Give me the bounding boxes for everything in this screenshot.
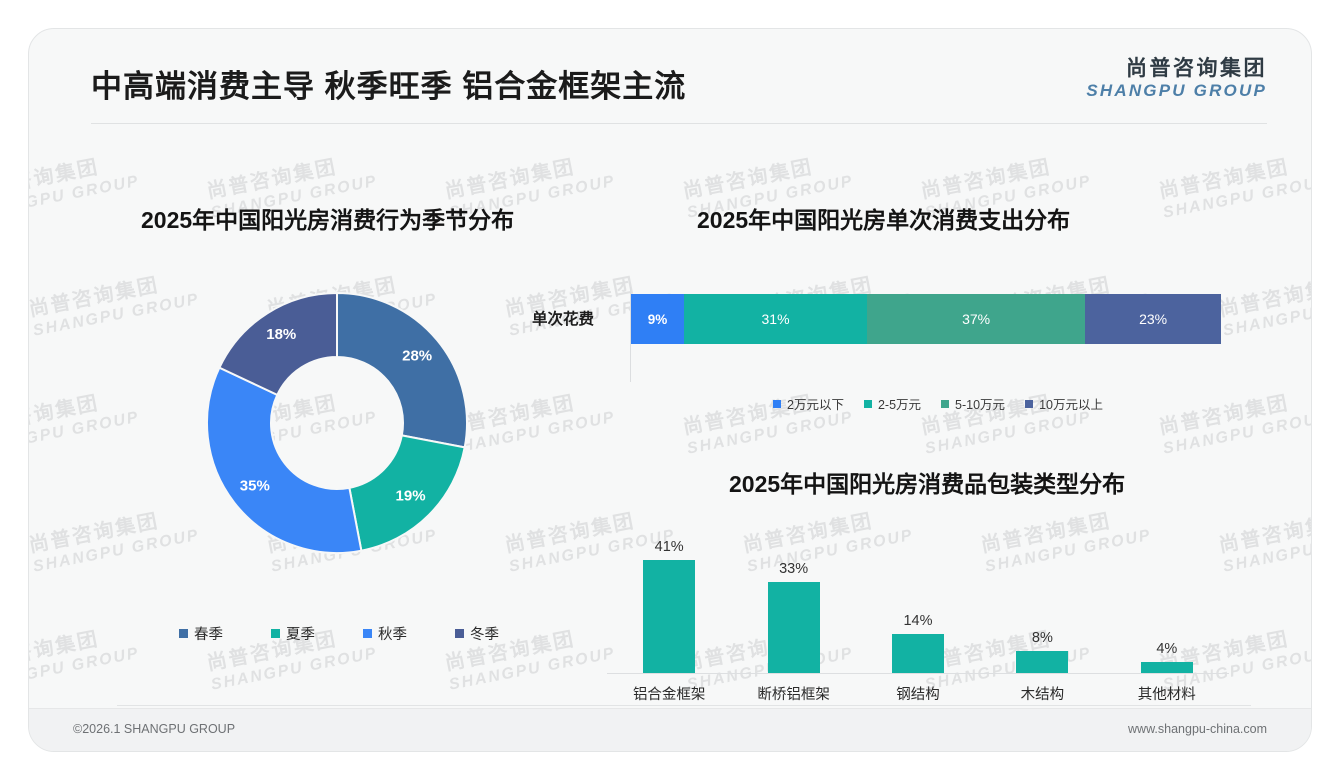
donut-segment-label: 18% (266, 326, 296, 343)
donut-legend-item[interactable]: 秋季 (363, 623, 407, 644)
donut-segment-label: 35% (240, 478, 270, 495)
column-chart-plot: 41%33%14%8%4% (607, 527, 1229, 673)
donut-legend-item[interactable]: 夏季 (271, 623, 315, 644)
donut-legend-label: 夏季 (286, 623, 315, 644)
stacked-row-label: 单次花费 (532, 307, 594, 329)
watermark-text: 尚普咨询集团SHANGPU GROUP (918, 379, 1093, 458)
footnote-divider (117, 705, 1251, 706)
donut-segment[interactable] (337, 293, 467, 447)
column-value-label: 4% (1112, 641, 1222, 657)
legend-swatch-icon (1025, 400, 1033, 408)
watermark-text: 尚普咨询集团SHANGPU GROUP (1216, 261, 1311, 340)
donut-legend-item[interactable]: 冬季 (455, 623, 499, 644)
stacked-legend-label: 5-10万元 (955, 394, 1005, 413)
stacked-legend-item[interactable]: 10万元以上 (1025, 394, 1103, 413)
stacked-legend-label: 2-5万元 (878, 394, 921, 413)
stacked-legend-label: 10万元以上 (1039, 394, 1103, 413)
legend-swatch-icon (363, 629, 372, 638)
donut-segment-label: 19% (396, 488, 426, 505)
column-category-label: 钢结构 (863, 683, 973, 704)
donut-legend-label: 春季 (194, 623, 223, 644)
column-category-label: 铝合金框架 (614, 683, 724, 704)
watermark-text: 尚普咨询集团SHANGPU GROUP (29, 615, 141, 694)
stacked-legend-item[interactable]: 2万元以下 (773, 394, 844, 413)
donut-legend-label: 秋季 (378, 623, 407, 644)
stacked-legend-item[interactable]: 2-5万元 (864, 394, 921, 413)
column-value-label: 33% (739, 561, 849, 577)
legend-swatch-icon (455, 629, 464, 638)
donut-legend-label: 冬季 (470, 623, 499, 644)
column-bar-group[interactable]: 4% (1112, 641, 1222, 673)
stacked-legend-item[interactable]: 5-10万元 (941, 394, 1005, 413)
watermark-text: 尚普咨询集团SHANGPU GROUP (29, 261, 201, 340)
column-bar[interactable] (1141, 662, 1193, 673)
stacked-bar-segment[interactable]: 37% (867, 294, 1085, 344)
stacked-bar: 9%31%37%23% (631, 294, 1221, 344)
stacked-legend-label: 2万元以下 (787, 394, 844, 413)
column-bar-group[interactable]: 14% (863, 613, 973, 673)
watermark-text: 尚普咨询集团SHANGPU GROUP (1156, 379, 1311, 458)
stacked-bar-segment[interactable]: 9% (631, 294, 684, 344)
watermark-text: 尚普咨询集团SHANGPU GROUP (1156, 143, 1311, 222)
column-category-label: 木结构 (987, 683, 1097, 704)
column-bar[interactable] (892, 634, 944, 673)
column-baseline (607, 673, 1229, 674)
stacked-bar-segment[interactable]: 31% (684, 294, 867, 344)
watermark-text: 尚普咨询集团SHANGPU GROUP (29, 497, 201, 576)
column-bar[interactable] (643, 560, 695, 673)
legend-swatch-icon (271, 629, 280, 638)
slide-footer: ©2026.1 SHANGPU GROUP www.shangpu-china.… (29, 708, 1311, 751)
stacked-bar-segment[interactable]: 23% (1085, 294, 1221, 344)
watermark-text: 尚普咨询集团SHANGPU GROUP (680, 379, 855, 458)
donut-segment[interactable] (207, 368, 361, 553)
watermark-text: 尚普咨询集团SHANGPU GROUP (1216, 497, 1311, 576)
footer-website[interactable]: www.shangpu-china.com (1128, 722, 1267, 736)
slide-card: 尚普咨询集团SHANGPU GROUP尚普咨询集团SHANGPU GROUP尚普… (28, 28, 1312, 752)
column-chart-title: 2025年中国阳光房消费品包装类型分布 (729, 465, 1125, 499)
donut-segment-label: 28% (402, 348, 432, 365)
column-bar-group[interactable]: 33% (739, 561, 849, 673)
column-value-label: 8% (987, 630, 1097, 646)
footer-copyright: ©2026.1 SHANGPU GROUP (73, 722, 235, 736)
legend-swatch-icon (773, 400, 781, 408)
stacked-legend: 2万元以下2-5万元5-10万元10万元以上 (773, 394, 1103, 413)
donut-chart: 28%19%35%18% (201, 287, 473, 559)
logo-text-en: SHANGPU GROUP (1086, 81, 1267, 100)
legend-swatch-icon (941, 400, 949, 408)
column-bar-group[interactable]: 41% (614, 539, 724, 673)
legend-swatch-icon (864, 400, 872, 408)
slide-root: 尚普咨询集团SHANGPU GROUP尚普咨询集团SHANGPU GROUP尚普… (0, 0, 1340, 780)
watermark-text: 尚普咨询集团SHANGPU GROUP (29, 379, 141, 458)
watermark-text: 尚普咨询集团SHANGPU GROUP (29, 143, 141, 222)
stacked-chart-title: 2025年中国阳光房单次消费支出分布 (697, 201, 1070, 235)
column-category-label: 断桥铝框架 (739, 683, 849, 704)
column-bar[interactable] (1016, 651, 1068, 673)
column-value-label: 14% (863, 613, 973, 629)
column-bar[interactable] (768, 582, 820, 673)
column-value-label: 41% (614, 539, 724, 555)
donut-legend: 春季夏季秋季冬季 (179, 623, 499, 644)
header-divider (91, 123, 1267, 124)
column-bar-group[interactable]: 8% (987, 630, 1097, 673)
slide-header: 中高端消费主导 秋季旺季 铝合金框架主流 尚普咨询集团 SHANGPU GROU… (29, 29, 1311, 125)
column-category-label: 其他材料 (1112, 683, 1222, 704)
brand-logo: 尚普咨询集团 SHANGPU GROUP (1086, 57, 1267, 100)
logo-text-cn: 尚普咨询集团 (1086, 57, 1267, 81)
page-title: 中高端消费主导 秋季旺季 铝合金框架主流 (91, 61, 686, 106)
donut-chart-title: 2025年中国阳光房消费行为季节分布 (141, 201, 514, 235)
legend-swatch-icon (179, 629, 188, 638)
donut-legend-item[interactable]: 春季 (179, 623, 223, 644)
